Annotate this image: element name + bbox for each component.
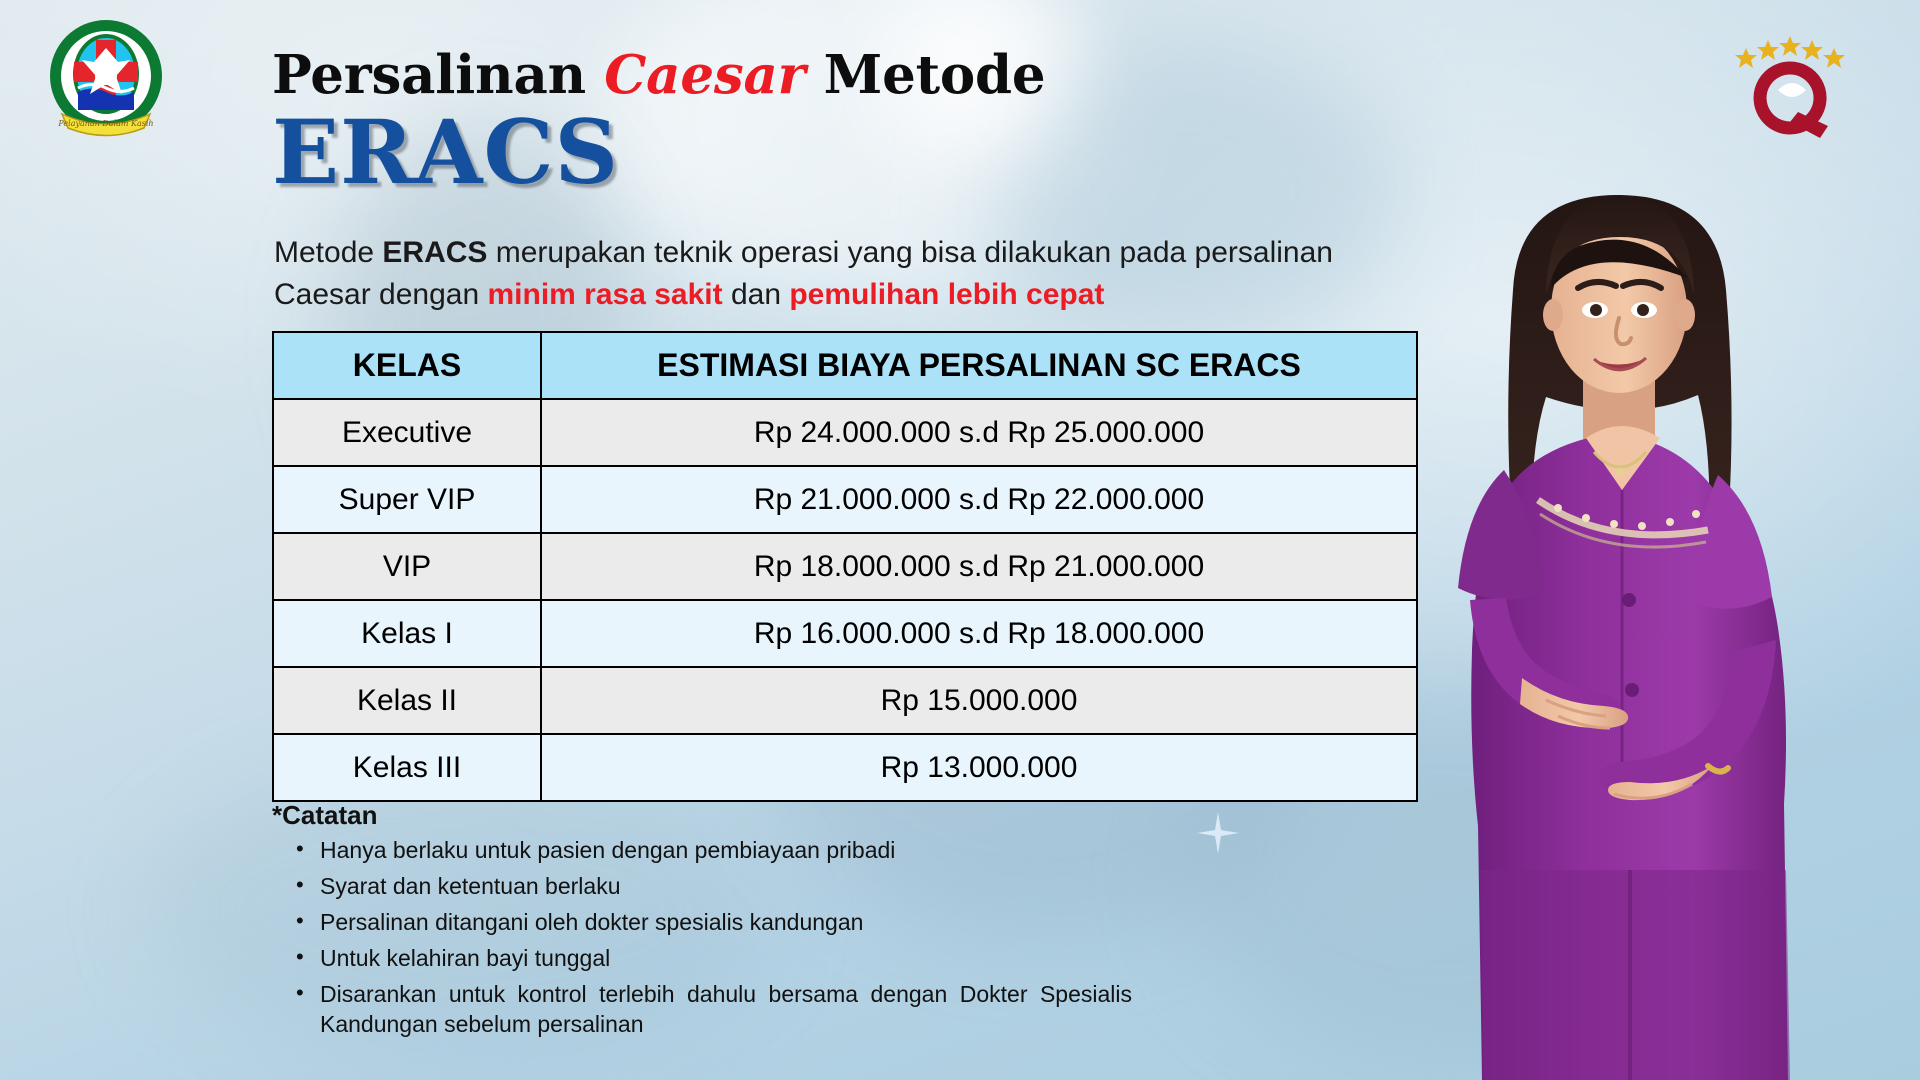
table-row: Super VIP Rp 21.000.000 s.d Rp 22.000.00… [273, 466, 1417, 533]
title-part-2: Metode [824, 44, 1046, 106]
lead-bold-eracs: ERACS [382, 236, 487, 269]
notes-section: *Catatan Hanya berlaku untuk pasien deng… [272, 800, 1132, 1045]
cell-biaya: Rp 24.000.000 s.d Rp 25.000.000 [541, 399, 1417, 466]
notes-list-item: Untuk kelahiran bayi tunggal [320, 943, 1132, 973]
poster-canvas: RUMAH SAKIT ST. THERESIA JAMBI Pelayanan… [0, 0, 1920, 1080]
notes-list-item: Persalinan ditangani oleh dokter spesial… [320, 907, 1132, 937]
table-row: Kelas I Rp 16.000.000 s.d Rp 18.000.000 [273, 600, 1417, 667]
notes-list-item: Hanya berlaku untuk pasien dengan pembia… [320, 835, 1132, 865]
lead-text-3: dan [723, 278, 790, 311]
hospital-logo-banner-text: Pelayanan Dalam Kasih [57, 119, 153, 128]
title-highlight-caesar: Caesar [604, 44, 805, 106]
cell-kelas: Kelas I [273, 600, 541, 667]
cell-kelas: Kelas II [273, 667, 541, 734]
cell-kelas: Executive [273, 399, 541, 466]
lead-paragraph: Metode ERACS merupakan teknik operasi ya… [274, 232, 1354, 316]
pregnant-woman-photo [1418, 170, 1848, 1080]
table-header-kelas: KELAS [273, 332, 541, 399]
table-header-biaya: ESTIMASI BIAYA PERSALINAN SC ERACS [541, 332, 1417, 399]
hospital-logo-icon: RUMAH SAKIT ST. THERESIA JAMBI Pelayanan… [44, 14, 168, 138]
sparkle-icon [1195, 810, 1241, 856]
page-subtitle-eracs: ERACS [272, 108, 619, 196]
notes-title: *Catatan [272, 800, 1132, 831]
cell-biaya: Rp 13.000.000 [541, 734, 1417, 801]
cell-biaya: Rp 18.000.000 s.d Rp 21.000.000 [541, 533, 1417, 600]
lead-highlight-2: pemulihan lebih cepat [789, 278, 1104, 311]
cell-biaya: Rp 16.000.000 s.d Rp 18.000.000 [541, 600, 1417, 667]
kars-accreditation-logo-icon [1720, 28, 1860, 138]
table-row: Kelas III Rp 13.000.000 [273, 734, 1417, 801]
cell-kelas: VIP [273, 533, 541, 600]
cell-biaya: Rp 15.000.000 [541, 667, 1417, 734]
lead-text-1: Metode [274, 236, 382, 269]
title-part-1: Persalinan [272, 44, 586, 106]
lead-highlight-1: minim rasa sakit [488, 278, 723, 311]
cell-biaya: Rp 21.000.000 s.d Rp 22.000.000 [541, 466, 1417, 533]
notes-list-item: Disarankan untuk kontrol terlebih dahulu… [320, 979, 1132, 1039]
table-row: Executive Rp 24.000.000 s.d Rp 25.000.00… [273, 399, 1417, 466]
price-table: KELAS ESTIMASI BIAYA PERSALINAN SC ERACS… [272, 331, 1418, 802]
notes-list: Hanya berlaku untuk pasien dengan pembia… [272, 835, 1132, 1039]
table-row: Kelas II Rp 15.000.000 [273, 667, 1417, 734]
table-header-row: KELAS ESTIMASI BIAYA PERSALINAN SC ERACS [273, 332, 1417, 399]
page-title: Persalinan Caesar Metode [272, 44, 1045, 106]
cell-kelas: Super VIP [273, 466, 541, 533]
cell-kelas: Kelas III [273, 734, 541, 801]
notes-list-item: Syarat dan ketentuan berlaku [320, 871, 1132, 901]
table-row: VIP Rp 18.000.000 s.d Rp 21.000.000 [273, 533, 1417, 600]
